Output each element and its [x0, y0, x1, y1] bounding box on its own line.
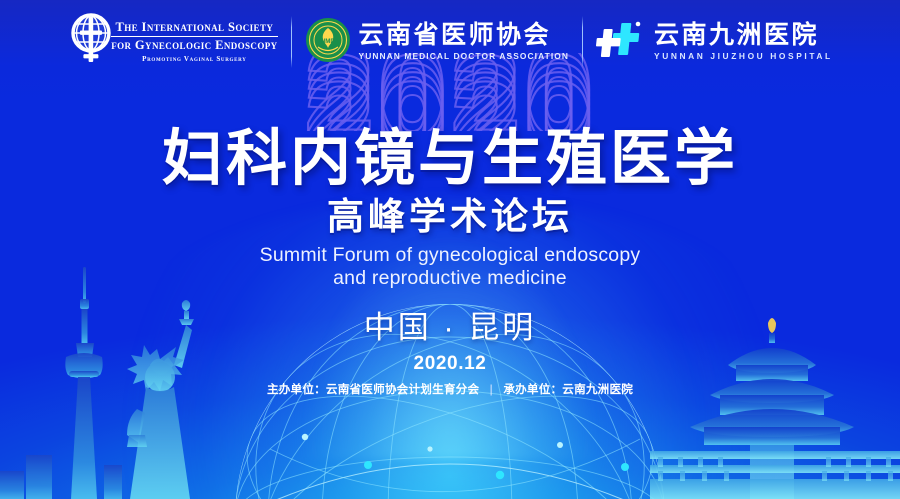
organizer-line: 主办单位：云南省医师协会计划生育分会 | 承办单位：云南九洲医院	[0, 384, 900, 396]
date-label: 2020.12	[0, 354, 900, 373]
isge-line2: for Gynecologic Endoscopy	[111, 39, 277, 52]
jiuzhou-name-cn: 云南九洲医院	[654, 23, 833, 48]
isge-line1: The International Society	[115, 21, 273, 34]
english-title-line1: Summit Forum of gynecological endoscopy	[0, 244, 900, 267]
ynmda-emblem-text: YNMDA	[316, 38, 339, 45]
city-label: 中国 · 昆明	[0, 312, 900, 343]
ynmda-emblem-icon: YNMDA	[305, 17, 351, 68]
logo-yunnan-jiuzhou-hospital: 云南九洲医院 YUNNAN JIUZHOU HOSPITAL	[583, 9, 846, 75]
logo-yunnan-medical-doctor-association: YNMDA 云南省医师协会 YUNNAN MEDICAL DOCTOR ASSO…	[292, 9, 582, 75]
english-title: Summit Forum of gynecological endoscopy …	[0, 244, 900, 290]
conference-poster: 2020 2020 2020 2020 2020	[0, 0, 900, 499]
main-title: 妇科内镜与生殖医学	[0, 128, 900, 189]
jiuzhou-name-en: YUNNAN JIUZHOU HOSPITAL	[654, 52, 833, 60]
isge-rule	[111, 36, 277, 37]
title-block: 妇科内镜与生殖医学 高峰学术论坛 Summit Forum of gynecol…	[0, 128, 900, 396]
globe-venus-symbol-icon	[67, 11, 115, 74]
host-label: 承办单位：云南九洲医院	[503, 383, 633, 396]
logo-isge: The International Society for Gynecologi…	[54, 9, 290, 75]
sub-title: 高峰学术论坛	[0, 198, 900, 235]
english-title-line2: and reproductive medicine	[0, 267, 900, 290]
ynmda-name-cn: 云南省医师协会	[359, 23, 569, 48]
organizer-label: 主办单位：云南省医师协会计划生育分会	[267, 383, 479, 396]
medical-cross-icon	[596, 17, 646, 68]
ynmda-name-en: YUNNAN MEDICAL DOCTOR ASSOCIATION	[359, 52, 569, 60]
isge-tagline: Promoting Vaginal Surgery	[142, 56, 246, 63]
organizer-separator: |	[483, 384, 500, 396]
logo-header: The International Society for Gynecologi…	[0, 9, 900, 75]
